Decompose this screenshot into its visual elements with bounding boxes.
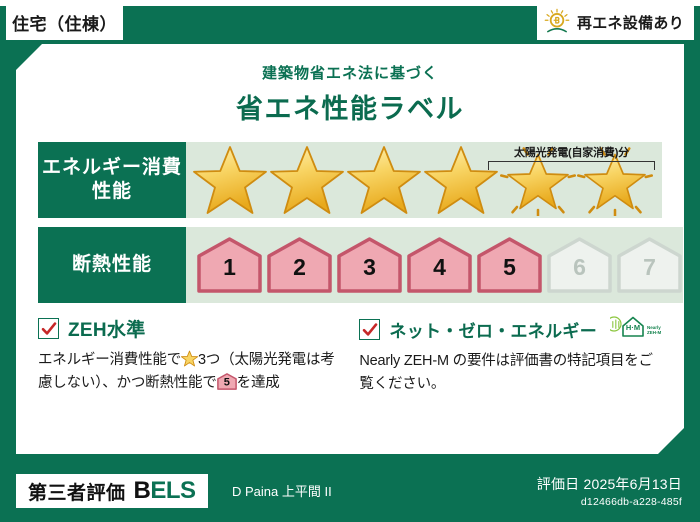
insulation-row: 断熱性能 1 2	[38, 227, 662, 303]
evaluation-date-label: 評価日	[537, 476, 580, 492]
energy-consumption-label: エネルギー消費性能	[38, 142, 186, 218]
star-solar	[577, 144, 653, 216]
insulation-grade-block: 4	[406, 236, 473, 294]
insulation-grade-value: 3	[336, 254, 403, 281]
third-party-label: 第三者評価	[28, 478, 126, 505]
renewable-badge-label: 再エネ設備あり	[577, 12, 684, 33]
bels-certification-tag: 第三者評価 BELS	[16, 474, 208, 508]
check-icon	[41, 321, 57, 337]
net-zero-energy-checkbox[interactable]	[359, 319, 380, 340]
insulation-grade-block: 7	[616, 236, 683, 294]
insulation-body: 1 2 3	[186, 227, 683, 303]
insulation-grade-block: 5	[476, 236, 543, 294]
star-filled	[423, 144, 499, 216]
net-zero-energy-header: ネット・ゼロ・エネルギー H·M Nearly	[359, 315, 662, 343]
svg-text:H·M: H·M	[626, 323, 640, 332]
renewable-energy-badge: 再エネ設備あり	[537, 4, 694, 40]
zeh-body-star-count: 3つ	[198, 352, 220, 368]
insulation-grade-value: 4	[406, 254, 473, 281]
bels-logo-els: ELS	[150, 477, 195, 504]
insulation-grade-value: 1	[196, 254, 263, 281]
zeh-standard-header: ZEH水準	[38, 315, 337, 342]
star-rating	[192, 144, 653, 216]
building-name: D Paina 上平間 II	[232, 481, 332, 500]
inline-star-icon	[181, 350, 198, 367]
zeh-m-logo-icon: H·M Nearly ZEH-M	[610, 315, 662, 343]
energy-performance-label: 住宅（住棟） 再エネ設備あり 建築物省エネ法に基づ	[0, 0, 700, 522]
insulation-grade-scale: 1 2 3	[192, 236, 683, 294]
insulation-grade-block: 6	[546, 236, 613, 294]
performance-rows: エネルギー消費性能	[38, 142, 662, 303]
svg-text:Nearly: Nearly	[647, 325, 661, 330]
label-card: 建築物省エネ法に基づく 省エネ性能ラベル エネルギー消費性能	[16, 44, 684, 454]
zeh-standard-body: エネルギー消費性能で 3つ（太陽光発電は考慮しない）、かつ断熱性能で 5 を達成	[38, 349, 337, 396]
bels-logo: BELS	[134, 477, 196, 505]
star-filled	[192, 144, 268, 216]
insulation-grade-value: 7	[616, 254, 683, 281]
insulation-grade-block: 2	[266, 236, 333, 294]
insulation-grade-block: 3	[336, 236, 403, 294]
insulation-grade-value: 5	[476, 254, 543, 281]
zeh-body-part1: エネルギー消費性能で	[38, 352, 181, 368]
inline-grade-house-icon: 5	[217, 373, 237, 390]
energy-consumption-body: 太陽光発電(自家消費)分	[186, 142, 662, 218]
inline-grade-value: 5	[217, 375, 237, 393]
star-filled	[269, 144, 345, 216]
evaluation-date: 評価日 2025年6月13日	[537, 474, 682, 494]
insulation-grade-value: 6	[546, 254, 613, 281]
bels-logo-b: B	[134, 477, 151, 504]
zeh-body-part3: を達成	[237, 375, 280, 391]
zeh-standard-title: ZEH水準	[68, 315, 146, 342]
evaluation-uid: d12466db-a228-485f	[537, 496, 682, 508]
evaluation-info: 評価日 2025年6月13日 d12466db-a228-485f	[537, 474, 682, 508]
star-solar	[500, 144, 576, 216]
building-type-tag: 住宅（住棟）	[6, 4, 123, 40]
energy-consumption-row: エネルギー消費性能	[38, 142, 662, 218]
label-subtitle: 建築物省エネ法に基づく	[38, 62, 662, 83]
net-zero-energy-title: ネット・ゼロ・エネルギー	[389, 317, 597, 342]
zeh-standard-checkbox[interactable]	[38, 318, 59, 339]
insulation-label: 断熱性能	[38, 227, 186, 303]
sun-renewable-icon	[543, 8, 571, 36]
label-title: 省エネ性能ラベル	[38, 87, 662, 126]
insulation-grade-block: 1	[196, 236, 263, 294]
svg-text:ZEH-M: ZEH-M	[647, 330, 661, 335]
net-zero-energy-body: Nearly ZEH-M の要件は評価書の特記項目をご覧ください。	[359, 350, 662, 397]
check-icon	[362, 322, 378, 338]
insulation-grade-value: 2	[266, 254, 333, 281]
notes-section: ZEH水準 エネルギー消費性能で 3つ（太陽光発電は考慮しない）、かつ断熱性能で…	[38, 315, 662, 397]
zeh-standard-note: ZEH水準 エネルギー消費性能で 3つ（太陽光発電は考慮しない）、かつ断熱性能で…	[38, 315, 337, 397]
building-type-tag-label: 住宅（住棟）	[12, 10, 117, 35]
evaluation-date-value: 2025年6月13日	[583, 476, 682, 492]
label-footer: 第三者評価 BELS D Paina 上平間 II 評価日 2025年6月13日…	[0, 454, 700, 522]
net-zero-energy-note: ネット・ゼロ・エネルギー H·M Nearly	[359, 315, 662, 397]
star-filled	[346, 144, 422, 216]
